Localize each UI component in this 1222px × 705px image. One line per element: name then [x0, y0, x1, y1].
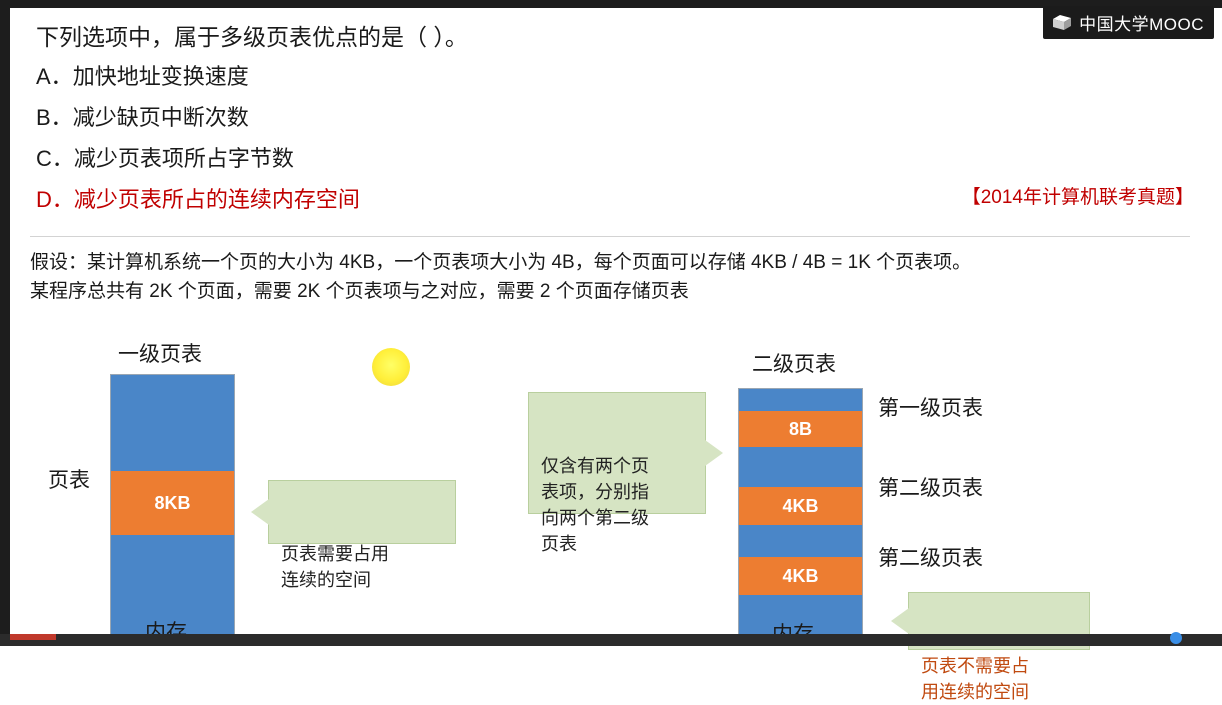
laser-pointer-dot	[372, 348, 410, 386]
question-stem: 下列选项中，属于多级页表优点的是（ ）。	[36, 22, 936, 53]
cube-icon	[1051, 14, 1073, 32]
assumption-line-2: 某程序总共有 2K 个页面，需要 2K 个页表项与之对应，需要 2 个页面存储页…	[30, 277, 1200, 306]
right-memory-column: 8B 4KB 4KB	[738, 388, 863, 640]
left-callout-text: 页表需要占用 连续的空间	[281, 544, 389, 590]
option-c-label: C．	[36, 148, 74, 170]
exam-source-tag: 【2014年计算机联考真题】	[962, 182, 1194, 209]
right-label-level2-b: 第二级页表	[878, 542, 983, 572]
left-diagram-title: 一级页表	[118, 338, 202, 368]
right-label-level1: 第一级页表	[878, 392, 983, 422]
section-divider	[30, 236, 1190, 237]
option-list: A．加快地址变换速度 B．减少缺页中断次数 C．减少页表项所占字节数 D．减少页…	[36, 66, 1036, 230]
option-a-label: A．	[36, 66, 73, 88]
assumption-text: 假设：某计算机系统一个页的大小为 4KB，一个页表项大小为 4B，每个页面可以存…	[30, 248, 1200, 307]
option-b-label: B．	[36, 107, 73, 129]
option-a: A．加快地址变换速度	[36, 66, 1036, 88]
right-callout-bottom-text: 页表不需要占 用连续的空间	[921, 656, 1029, 702]
left-side-label: 页表	[48, 464, 90, 494]
right-callout-left-tail	[705, 440, 723, 466]
player-control-dot[interactable]	[1170, 632, 1182, 644]
right-diagram-title: 二级页表	[752, 348, 836, 378]
slide-canvas: 中国大学MOOC 下列选项中，属于多级页表优点的是（ ）。 A．加快地址变换速度…	[0, 0, 1222, 646]
right-block-0	[739, 389, 862, 411]
right-callout-left-text: 仅含有两个页 表项，分别指 向两个第二级 页表	[541, 456, 649, 554]
left-memory-column: 8KB	[110, 374, 235, 636]
left-block-1: 8KB	[111, 471, 234, 535]
option-b-text: 减少缺页中断次数	[73, 105, 249, 130]
option-a-text: 加快地址变换速度	[73, 64, 249, 89]
option-d-label: D．	[36, 189, 74, 211]
option-c-text: 减少页表项所占字节数	[74, 146, 294, 171]
letterbox-top	[0, 0, 1222, 8]
option-c: C．减少页表项所占字节数	[36, 148, 1036, 170]
option-b: B．减少缺页中断次数	[36, 107, 1036, 129]
right-label-level2-a: 第二级页表	[878, 472, 983, 502]
player-bottom-bar[interactable]	[0, 634, 1222, 646]
right-block-5: 4KB	[739, 557, 862, 595]
right-block-4	[739, 525, 862, 557]
right-block-1: 8B	[739, 411, 862, 447]
right-block-3: 4KB	[739, 487, 862, 525]
progress-bar[interactable]	[10, 634, 56, 640]
left-callout-tail	[251, 499, 269, 525]
mooc-watermark: 中国大学MOOC	[1043, 6, 1214, 39]
left-callout: 页表需要占用 连续的空间	[268, 480, 456, 544]
assumption-line-1: 假设：某计算机系统一个页的大小为 4KB，一个页表项大小为 4B，每个页面可以存…	[30, 248, 1200, 277]
option-d: D．减少页表所占的连续内存空间	[36, 189, 1036, 211]
right-block-2	[739, 447, 862, 487]
watermark-text: 中国大学MOOC	[1079, 10, 1204, 35]
option-d-text: 减少页表所占的连续内存空间	[74, 187, 360, 212]
right-callout-left: 仅含有两个页 表项，分别指 向两个第二级 页表	[528, 392, 706, 514]
right-callout-bottom-tail	[891, 608, 909, 634]
left-block-0	[111, 375, 234, 471]
diagram-area: 一级页表 8KB 页表 内存 页表需要占用 连续的空间 二级页表 8B 4KB …	[0, 330, 1222, 646]
